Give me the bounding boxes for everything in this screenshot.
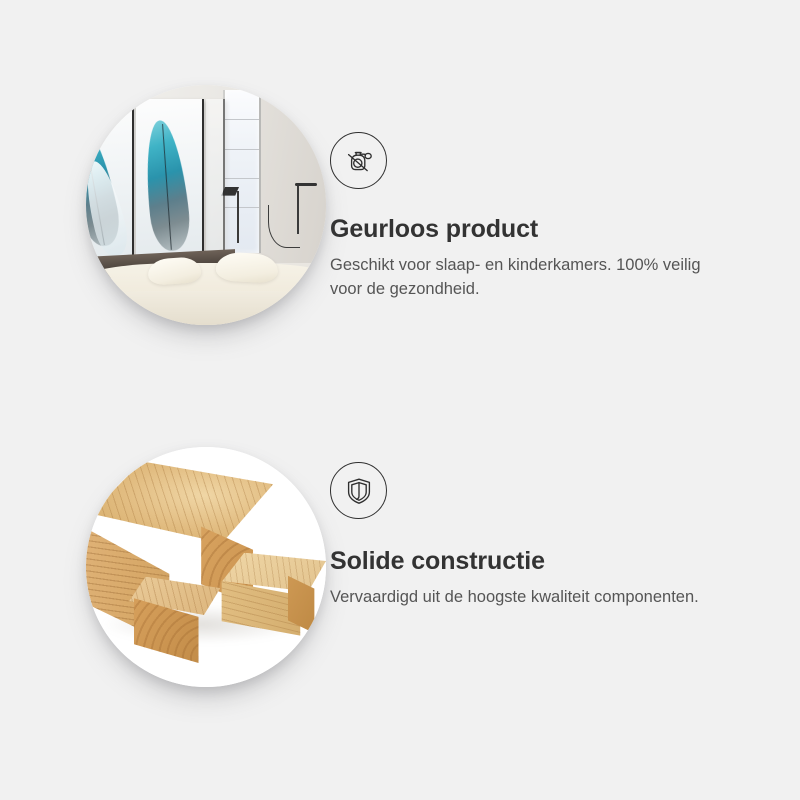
feature-text-column: Geurloos product Geschikt voor slaap- en…	[330, 60, 800, 302]
feature-image-wrap	[0, 60, 330, 360]
blanket	[86, 291, 326, 325]
canvas-panel-left	[86, 99, 134, 267]
feather-shape	[140, 118, 193, 252]
bedroom-feather-triptych-photo	[86, 85, 326, 325]
feature-image-wrap	[0, 422, 330, 722]
no-fragrance-icon	[330, 132, 387, 189]
feature-block-odorless-product: Geurloos product Geschikt voor slaap- en…	[0, 60, 800, 370]
window	[223, 90, 261, 253]
feature-text-column: Solide constructie Vervaardigd uit de ho…	[330, 422, 800, 609]
feature-title: Solide constructie	[330, 547, 800, 576]
photo-inner	[86, 447, 326, 687]
desk-lamp-icon	[237, 191, 239, 244]
bedroom-scene	[86, 85, 326, 325]
shield-icon	[330, 462, 387, 519]
feather-ghost-shape	[86, 158, 132, 260]
feature-block-solid-construction: Solide constructie Vervaardigd uit de ho…	[0, 422, 800, 732]
photo-inner	[86, 85, 326, 325]
feature-title: Geurloos product	[330, 215, 800, 244]
wood-scene	[86, 447, 326, 687]
canvas-panel-right	[206, 99, 225, 267]
canvas-panel-middle	[136, 99, 203, 267]
wooden-beams-photo	[86, 447, 326, 687]
beam-back-top-face	[91, 461, 273, 543]
feature-description: Geschikt voor slaap- en kinderkamers. 10…	[330, 253, 720, 302]
feature-description: Vervaardigd uit de hoogste kwaliteit com…	[330, 585, 720, 609]
